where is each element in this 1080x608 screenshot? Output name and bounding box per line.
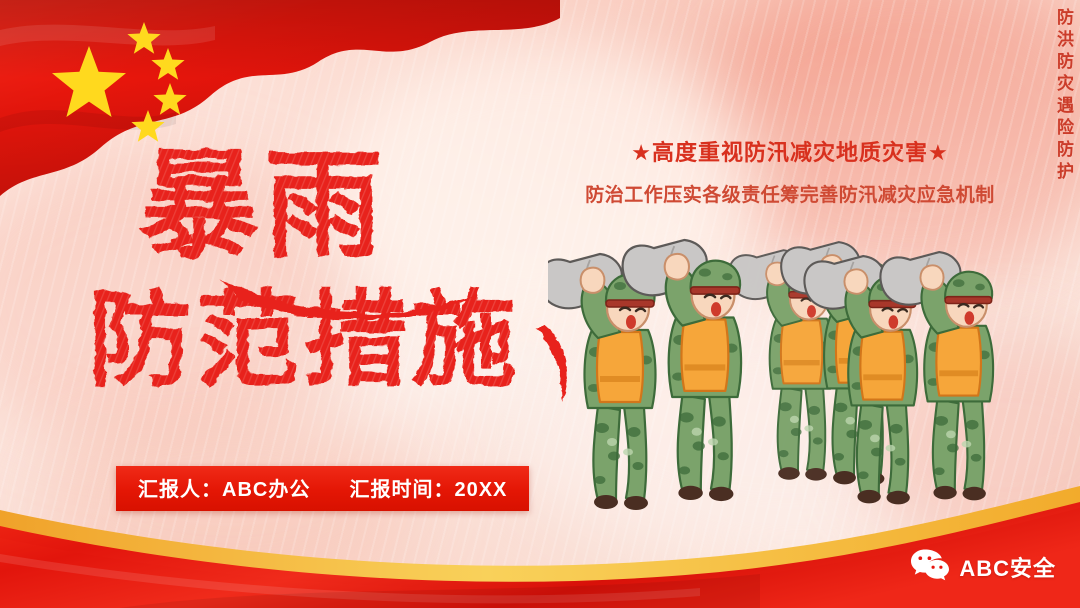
presenter-banner: 汇报人：ABC办公 汇报时间：20XX — [116, 466, 529, 511]
subtitle-line-1: ★高度重视防汛减灾地质灾害★ — [530, 135, 1050, 167]
subtitle-line-2: 防治工作压实各级责任筹完善防汛减灾应急机制 — [530, 180, 1050, 207]
soldier-figure — [804, 256, 917, 504]
title-brush-stroke — [220, 278, 476, 320]
date-label: 汇报时间：20XX — [349, 479, 507, 501]
background-wash-6 — [860, 330, 1080, 560]
background-wash-1 — [0, 150, 360, 450]
title-line-1-text: 暴雨 — [140, 135, 388, 274]
presenter-label: 汇报人：ABC办公 — [138, 479, 310, 501]
star-icon — [52, 22, 187, 142]
soldiers-illustration — [548, 236, 1060, 536]
paper-texture — [0, 0, 1080, 608]
soldier-figure — [729, 250, 834, 480]
soldier-figure — [880, 252, 993, 500]
vertical-side-text: 防洪防灾遇险防护 — [1054, 8, 1072, 184]
wechat-icon — [910, 548, 950, 586]
subtitle-block: ★高度重视防汛减灾地质灾害★ 防治工作压实各级责任筹完善防汛减灾应急机制 — [530, 135, 1050, 207]
soldier-figure — [548, 254, 655, 510]
soldier-figure — [781, 242, 891, 485]
title-brush-flick — [536, 324, 568, 402]
title-line-2-text: 防范措施 — [92, 278, 520, 401]
china-flag-icon — [0, 0, 560, 220]
poster-slide: 防洪防灾遇险防护 ★高度重视防汛减灾地质灾害★ 防治工作压实各级责任筹完善防汛减… — [0, 0, 1080, 608]
wechat-label: ABC安全 — [959, 551, 1056, 583]
background-wash-4 — [520, 300, 1080, 560]
wechat-brand: ABC安全 — [910, 548, 1056, 586]
soldier-figure — [623, 240, 741, 501]
